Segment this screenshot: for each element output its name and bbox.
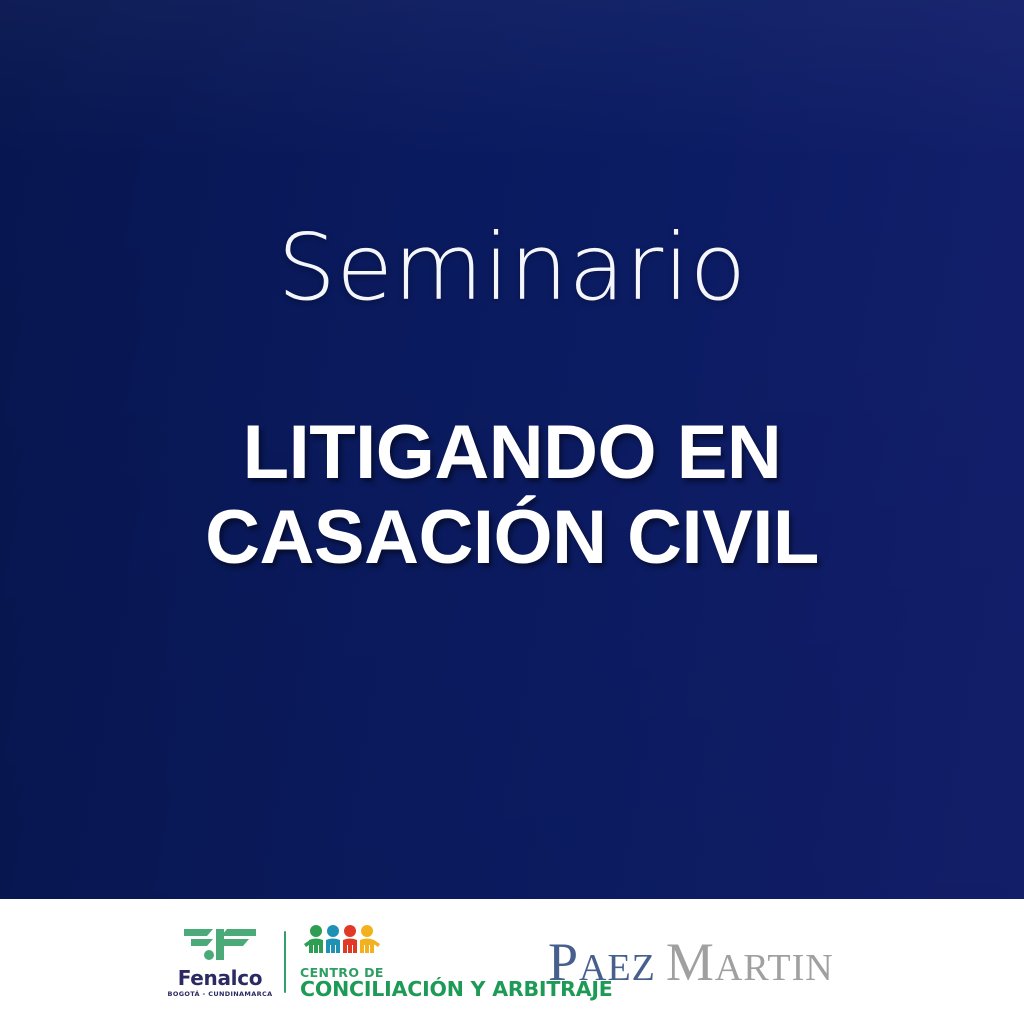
- fenalco-subtitle: BOGOTÁ - CUNDINAMARCA: [168, 991, 273, 998]
- headline-line-1: LITIGANDO EN: [205, 410, 819, 495]
- four-people-chain-icon: [302, 924, 382, 963]
- poster-kicker: Seminario: [277, 222, 746, 314]
- paez-martin-first-word: Paez: [548, 932, 656, 992]
- fenalco-wings-f-icon: [183, 927, 257, 966]
- fenalco-centro-lockup: Fenalco BOGOTÁ - CUNDINAMARCA: [172, 921, 613, 1003]
- seminar-poster: Seminario LITIGANDO EN CASACIÓN CIVIL: [0, 0, 1024, 1024]
- hero-content: Seminario LITIGANDO EN CASACIÓN CIVIL: [0, 0, 1024, 899]
- poster-hero-background: Seminario LITIGANDO EN CASACIÓN CIVIL: [0, 0, 1024, 899]
- poster-headline: LITIGANDO EN CASACIÓN CIVIL: [205, 410, 819, 580]
- paez-martin-second-word: Martin: [666, 932, 834, 992]
- lockup-divider: [284, 931, 286, 993]
- poster-footer: Fenalco BOGOTÁ - CUNDINAMARCA: [0, 899, 1024, 1024]
- headline-line-2: CASACIÓN CIVIL: [205, 495, 819, 580]
- fenalco-wordmark: Fenalco: [178, 968, 263, 988]
- footer-logo-row: Fenalco BOGOTÁ - CUNDINAMARCA: [0, 899, 1024, 1024]
- fenalco-logo: Fenalco BOGOTÁ - CUNDINAMARCA: [172, 927, 268, 998]
- paez-martin-logo: PaezMartin: [548, 935, 834, 989]
